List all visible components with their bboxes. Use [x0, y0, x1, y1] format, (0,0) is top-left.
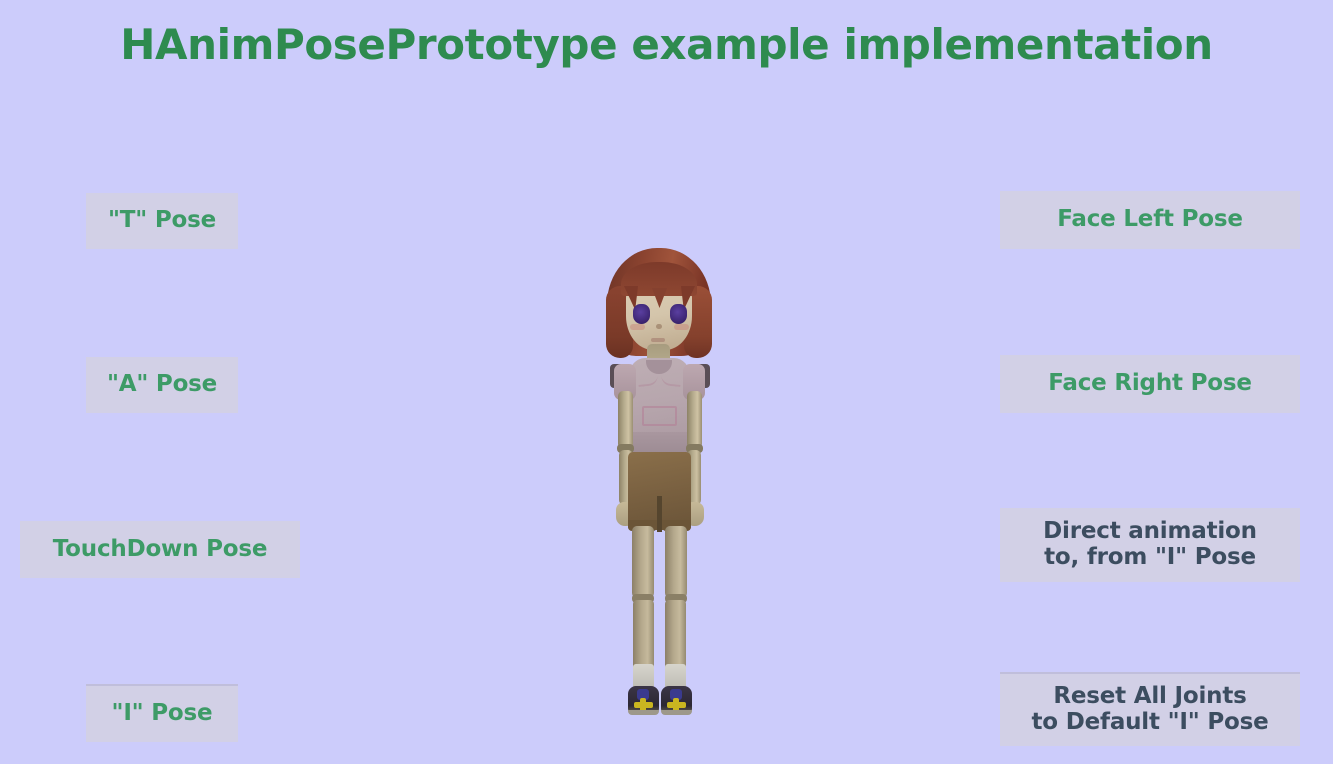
- avatar-cheek-right: [674, 324, 689, 330]
- avatar-shoe-sole-right: [661, 710, 692, 715]
- button-direct-animation-label: Direct animation to, from "I" Pose: [1043, 519, 1257, 571]
- avatar-upper-arm-left: [618, 391, 633, 449]
- button-reset-all-joints-label: Reset All Joints to Default "I" Pose: [1032, 684, 1269, 736]
- avatar-shin-right: [665, 600, 686, 673]
- button-face-right-pose-label: Face Right Pose: [1048, 371, 1252, 397]
- button-touchdown-pose[interactable]: TouchDown Pose: [20, 521, 300, 578]
- button-t-pose[interactable]: "T" Pose: [86, 193, 238, 249]
- button-reset-all-joints[interactable]: Reset All Joints to Default "I" Pose: [1000, 672, 1300, 746]
- button-face-left-pose[interactable]: Face Left Pose: [1000, 191, 1300, 249]
- viewer-scene: HAnimPosePrototype example implementatio…: [0, 0, 1333, 764]
- page-title: HAnimPosePrototype example implementatio…: [0, 20, 1333, 69]
- button-i-pose-label: "I" Pose: [112, 701, 213, 727]
- button-t-pose-label: "T" Pose: [108, 208, 216, 234]
- button-a-pose-label: "A" Pose: [107, 372, 217, 398]
- button-a-pose[interactable]: "A" Pose: [86, 357, 238, 413]
- button-touchdown-pose-label: TouchDown Pose: [53, 537, 268, 563]
- avatar-shirt-graphic: [642, 406, 677, 426]
- avatar-thigh-left: [632, 526, 654, 598]
- button-face-left-pose-label: Face Left Pose: [1057, 207, 1243, 233]
- avatar-shin-left: [633, 600, 654, 673]
- avatar-nose: [656, 324, 662, 329]
- hanim-humanoid-avatar[interactable]: [566, 248, 756, 726]
- button-i-pose[interactable]: "I" Pose: [86, 684, 238, 742]
- avatar-cheek-left: [630, 324, 645, 330]
- avatar-mouth: [651, 338, 665, 342]
- button-face-right-pose[interactable]: Face Right Pose: [1000, 355, 1300, 413]
- avatar-upper-arm-right: [687, 391, 702, 449]
- avatar-eye-left: [633, 304, 650, 324]
- avatar-eye-right: [670, 304, 687, 324]
- avatar-shorts-gap: [657, 496, 662, 532]
- avatar-thigh-right: [665, 526, 687, 598]
- button-direct-animation[interactable]: Direct animation to, from "I" Pose: [1000, 508, 1300, 582]
- avatar-shoe-sole-left: [628, 710, 659, 715]
